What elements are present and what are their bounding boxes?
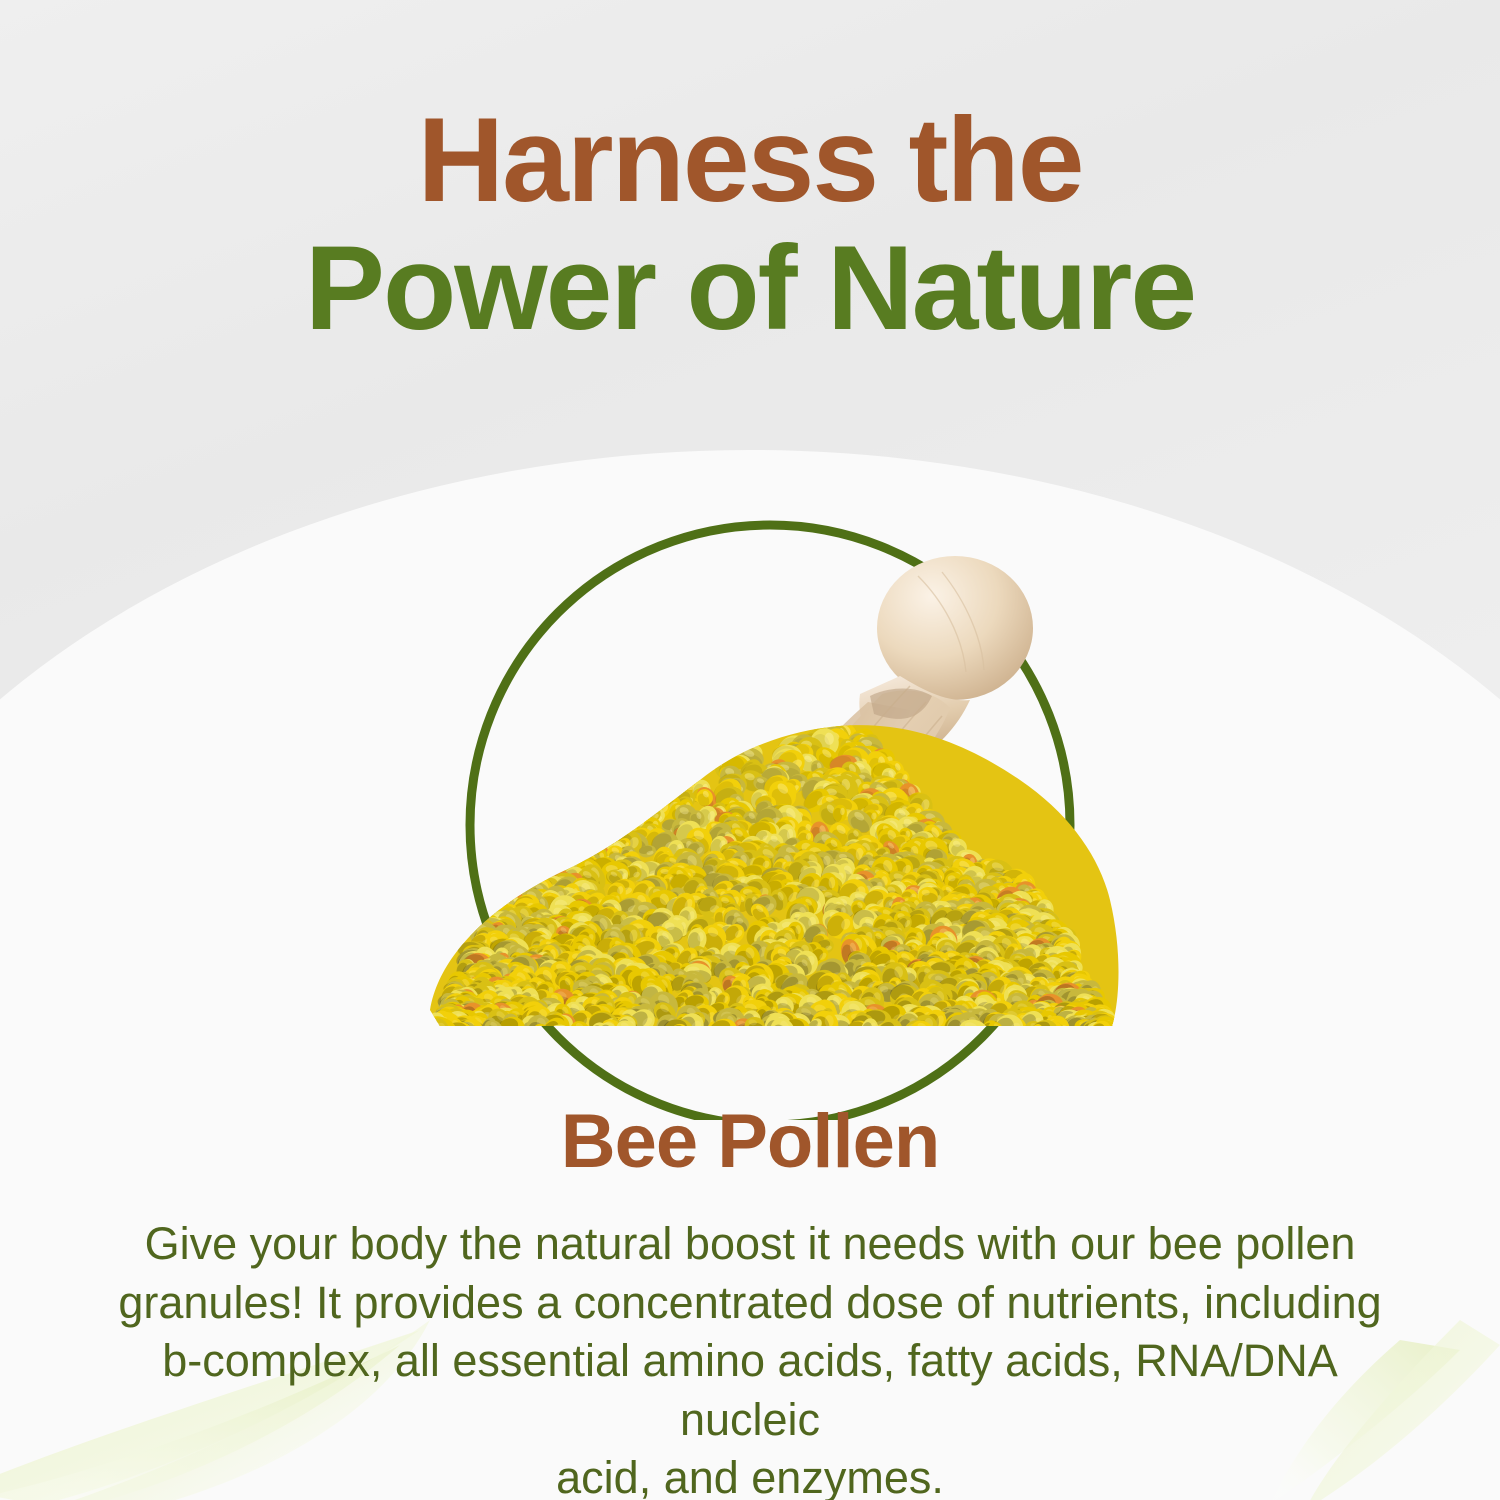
description-line-4: acid, and enzymes. <box>90 1449 1410 1500</box>
product-description: Give your body the natural boost it need… <box>90 1215 1410 1500</box>
description-line-3: b-complex, all essential amino acids, fa… <box>90 1332 1410 1449</box>
description-line-1: Give your body the natural boost it need… <box>90 1215 1410 1274</box>
product-title: Bee Pollen <box>0 1098 1500 1185</box>
headline-line-2: Power of Nature <box>0 228 1500 348</box>
poster-canvas: Harness the Power of Nature <box>0 0 1500 1500</box>
product-image <box>370 480 1170 1120</box>
pollen-pile <box>421 717 1123 1051</box>
headline-line-1: Harness the <box>0 100 1500 220</box>
description-line-2: granules! It provides a concentrated dos… <box>90 1274 1410 1333</box>
headline: Harness the Power of Nature <box>0 100 1500 348</box>
